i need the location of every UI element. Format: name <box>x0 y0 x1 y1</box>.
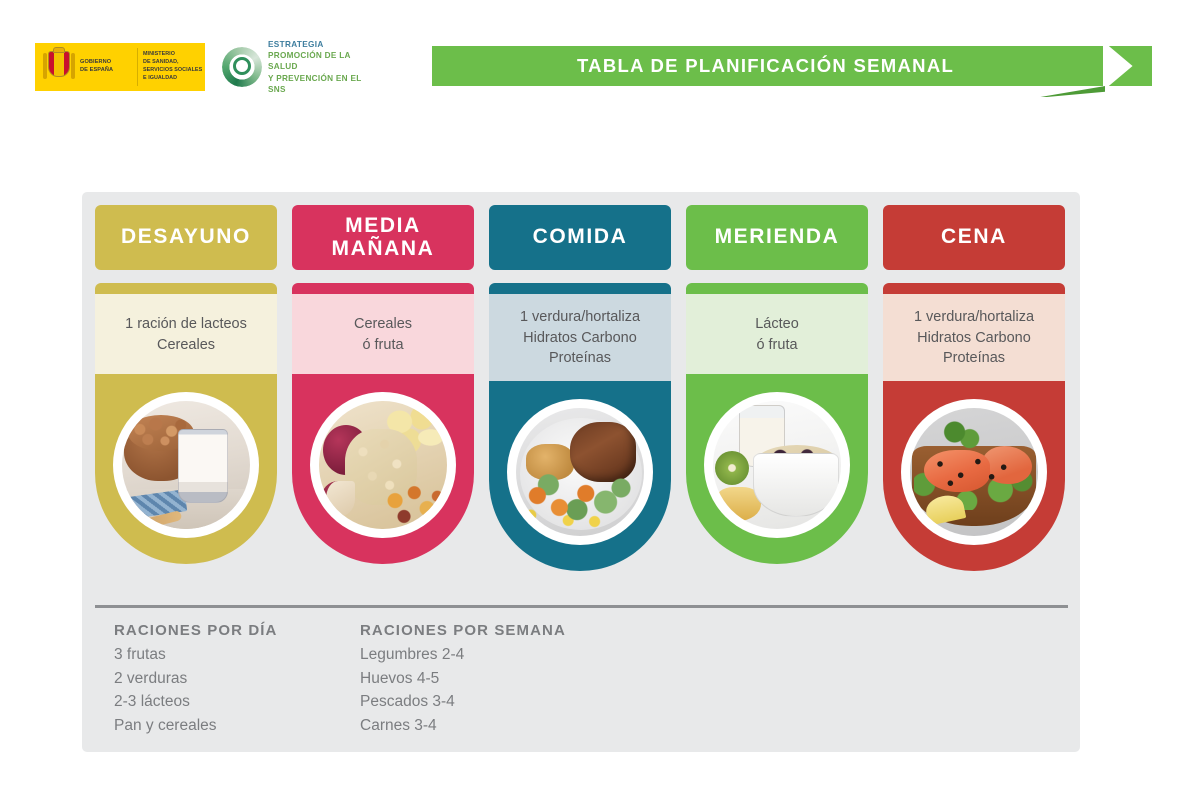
desc-body-merienda: Lácteo ó fruta <box>686 294 868 374</box>
meal-description-merienda: Lácteo ó fruta <box>686 283 868 374</box>
desc-line-2: ó fruta <box>362 335 403 356</box>
meal-title-comida: COMIDA <box>533 226 628 249</box>
desc-line-1: 1 verdura/hortaliza <box>520 307 640 328</box>
meal-description-cena: 1 verdura/hortaliza Hidratos Carbono Pro… <box>883 283 1065 381</box>
meal-header-media-manana[interactable]: MEDIA MAÑANA <box>292 205 474 270</box>
government-of-spain-logo: GOBIERNO DE ESPAÑA MINISTERIO DE SANIDAD… <box>35 43 205 91</box>
spain-coat-of-arms-icon <box>42 47 76 87</box>
meal-description-desayuno: 1 ración de lacteos Cereales <box>95 283 277 374</box>
desc-body-cena: 1 verdura/hortaliza Hidratos Carbono Pro… <box>883 294 1065 381</box>
meal-header-cena[interactable]: CENA <box>883 205 1065 270</box>
government-label: GOBIERNO DE ESPAÑA <box>80 59 132 74</box>
desc-line-2: Cereales <box>157 335 215 356</box>
salmon-on-wooden-board-photo <box>910 408 1038 536</box>
desc-strip-desayuno <box>95 283 277 294</box>
government-label-line1: GOBIERNO <box>80 59 132 67</box>
desc-body-desayuno: 1 ración de lacteos Cereales <box>95 294 277 374</box>
rations-per-week-item: Legumbres 2-4 <box>360 643 760 667</box>
logo-divider <box>137 48 138 86</box>
meal-title-merienda: MERIENDA <box>715 226 840 249</box>
rations-per-week-item: Huevos 4-5 <box>360 667 760 691</box>
photo-block-cena <box>883 381 1065 571</box>
meal-column-merienda: MERIENDA Lácteo ó fruta <box>686 205 868 564</box>
desc-line-1: 1 ración de lacteos <box>125 314 247 335</box>
meal-column-desayuno: DESAYUNO 1 ración de lacteos Cereales <box>95 205 277 564</box>
footer-divider <box>95 605 1068 608</box>
page-title: TABLA DE PLANIFICACIÓN SEMANAL <box>432 46 1103 86</box>
ministry-label: MINISTERIO DE SANIDAD, SERVICIOS SOCIALE… <box>143 51 205 82</box>
photo-ring <box>310 392 456 538</box>
desc-body-comida: 1 verdura/hortaliza Hidratos Carbono Pro… <box>489 294 671 381</box>
desc-line-1: 1 verdura/hortaliza <box>914 307 1034 328</box>
desc-line-3: Proteínas <box>943 348 1005 369</box>
estrategia-line3: Y PREVENCIÓN EN EL SNS <box>268 73 377 96</box>
meal-header-merienda[interactable]: MERIENDA <box>686 205 868 270</box>
photo-ring <box>704 392 850 538</box>
meal-column-cena: CENA 1 verdura/hortaliza Hidratos Carbon… <box>883 205 1065 571</box>
desc-strip-cena <box>883 283 1065 294</box>
photo-block-desayuno <box>95 374 277 564</box>
meal-description-media-manana: Cereales ó fruta <box>292 283 474 374</box>
desc-line-2: Hidratos Carbono <box>523 328 637 349</box>
desc-line-2: Hidratos Carbono <box>917 328 1031 349</box>
photo-ring <box>507 399 653 545</box>
meal-title-media-manana-line2: MAÑANA <box>332 238 435 261</box>
photo-block-media-manana <box>292 374 474 564</box>
grilled-meat-and-vegetables-photo <box>516 408 644 536</box>
ministry-label-line1: MINISTERIO <box>143 51 205 59</box>
rations-per-day-item: 3 frutas <box>114 643 364 667</box>
rations-per-day-item: 2-3 lácteos <box>114 690 364 714</box>
meal-title-cena: CENA <box>941 226 1007 249</box>
meal-column-media-manana: MEDIA MAÑANA Cereales ó fruta <box>292 205 474 564</box>
meal-description-comida: 1 verdura/hortaliza Hidratos Carbono Pro… <box>489 283 671 381</box>
estrategia-logo-text: ESTRATEGIA PROMOCIÓN DE LA SALUD Y PREVE… <box>268 39 377 96</box>
photo-ring <box>113 392 259 538</box>
desc-body-media-manana: Cereales ó fruta <box>292 294 474 374</box>
milk-jug-and-berry-cereal-bowl-photo <box>713 401 841 529</box>
desc-line-3: Proteínas <box>549 348 611 369</box>
rations-per-week-title: RACIONES POR SEMANA <box>360 622 760 639</box>
estrategia-line2: PROMOCIÓN DE LA SALUD <box>268 50 377 73</box>
rations-per-day-item: 2 verduras <box>114 667 364 691</box>
photo-ring <box>901 399 1047 545</box>
banner-notch-tail <box>1109 46 1152 86</box>
desc-strip-comida <box>489 283 671 294</box>
meal-title-media-manana-line1: MEDIA <box>332 215 435 238</box>
rations-per-day-title: RACIONES POR DÍA <box>114 622 364 639</box>
estrategia-promocion-salud-logo: ESTRATEGIA PROMOCIÓN DE LA SALUD Y PREVE… <box>222 44 377 90</box>
estrategia-line1: ESTRATEGIA <box>268 39 377 50</box>
desc-strip-merienda <box>686 283 868 294</box>
rations-per-day-item: Pan y cereales <box>114 714 364 738</box>
rations-per-day-block: RACIONES POR DÍA 3 frutas 2 verduras 2-3… <box>114 622 364 737</box>
meal-title-desayuno: DESAYUNO <box>121 226 251 249</box>
ministry-label-line2: DE SANIDAD, SERVICIOS SOCIALES <box>143 59 205 75</box>
meal-column-comida: COMIDA 1 verdura/hortaliza Hidratos Carb… <box>489 205 671 571</box>
rations-per-week-block: RACIONES POR SEMANA Legumbres 2-4 Huevos… <box>360 622 760 737</box>
title-banner: TABLA DE PLANIFICACIÓN SEMANAL <box>432 46 1152 86</box>
desc-strip-media-manana <box>292 283 474 294</box>
meal-header-comida[interactable]: COMIDA <box>489 205 671 270</box>
oats-apple-banana-dried-fruit-photo <box>319 401 447 529</box>
rations-per-week-item: Carnes 3-4 <box>360 714 760 738</box>
desc-line-1: Cereales <box>354 314 412 335</box>
page-header: GOBIERNO DE ESPAÑA MINISTERIO DE SANIDAD… <box>0 0 1195 120</box>
desc-line-1: Lácteo <box>755 314 799 335</box>
photo-block-merienda <box>686 374 868 564</box>
desc-line-2: ó fruta <box>756 335 797 356</box>
photo-block-comida <box>489 381 671 571</box>
swirl-ring-icon <box>222 47 262 87</box>
government-label-line2: DE ESPAÑA <box>80 67 132 75</box>
ministry-label-line3: E IGUALDAD <box>143 75 205 83</box>
rations-per-week-item: Pescados 3-4 <box>360 690 760 714</box>
meal-header-desayuno[interactable]: DESAYUNO <box>95 205 277 270</box>
banner-fold-shape <box>1040 86 1105 97</box>
cereal-bowl-and-milk-glass-photo <box>122 401 250 529</box>
